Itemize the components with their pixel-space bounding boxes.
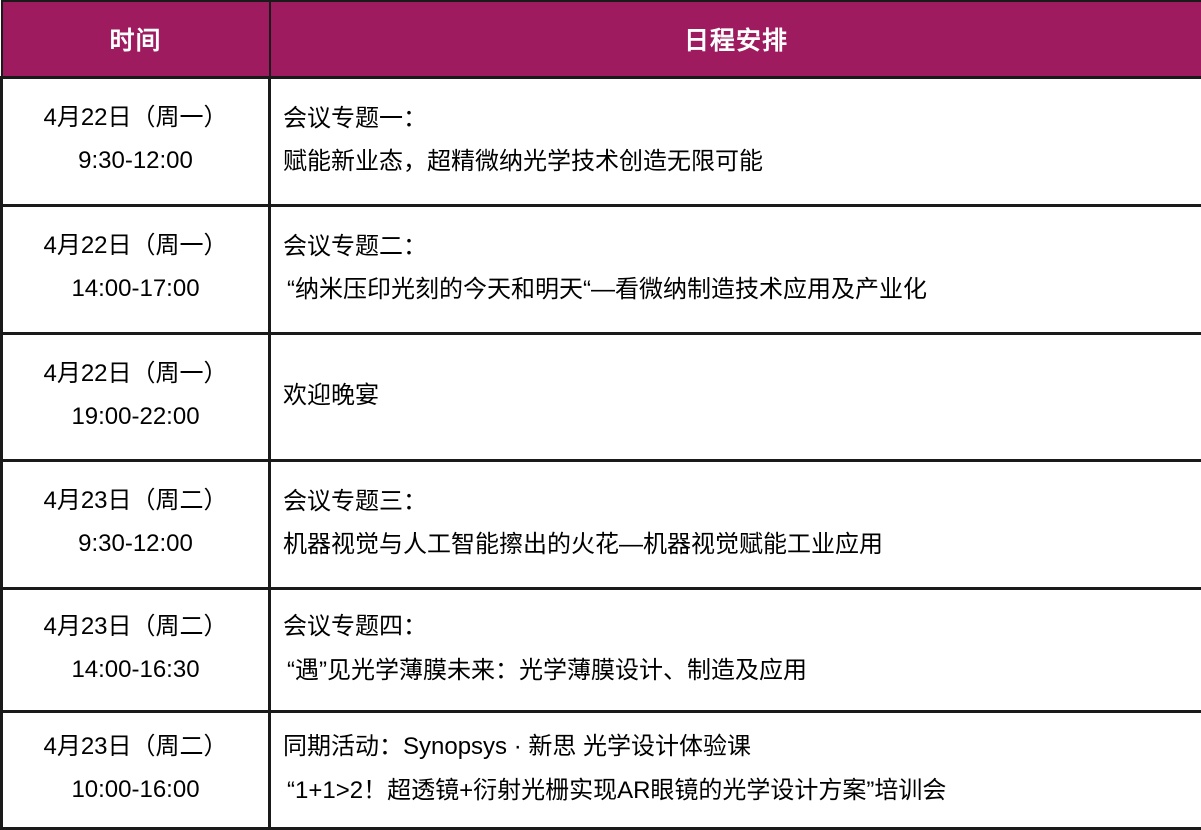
agenda-title: 会议专题三： <box>283 480 1191 523</box>
table-row: 4月23日（周二） 10:00-16:00 同期活动：Synopsys · 新思… <box>2 711 1201 828</box>
agenda-cell: 会议专题四： “遇”见光学薄膜未来：光学薄膜设计、制造及应用 <box>270 588 1201 711</box>
agenda-cell: 会议专题三： 机器视觉与人工智能擦出的火花—机器视觉赋能工业应用 <box>270 460 1201 588</box>
time-range: 9:30-12:00 <box>9 140 262 183</box>
time-date: 4月22日（周一） <box>9 97 262 140</box>
column-header-agenda: 日程安排 <box>270 1 1201 77</box>
schedule-table: 时间 日程安排 4月22日（周一） 9:30-12:00 会议专题一： 赋能新业… <box>0 0 1201 830</box>
agenda-title: 会议专题四： <box>283 605 1191 648</box>
time-cell: 4月22日（周一） 14:00-17:00 <box>2 205 270 333</box>
table-row: 4月22日（周一） 14:00-17:00 会议专题二： “纳米压印光刻的今天和… <box>2 205 1201 333</box>
table-row: 4月22日（周一） 19:00-22:00 欢迎晚宴 <box>2 333 1201 460</box>
time-cell: 4月23日（周二） 14:00-16:30 <box>2 588 270 711</box>
table-header: 时间 日程安排 <box>2 1 1201 77</box>
agenda-detail: “纳米压印光刻的今天和明天“—看微纳制造技术应用及产业化 <box>283 268 1191 311</box>
agenda-title: 会议专题一： <box>283 97 1191 140</box>
time-date: 4月23日（周二） <box>9 606 262 649</box>
time-range: 10:00-16:00 <box>9 769 262 812</box>
agenda-detail: “1+1>2！超透镜+衍射光栅实现AR眼镜的光学设计方案”培训会 <box>283 769 1191 812</box>
agenda-cell: 欢迎晚宴 <box>270 333 1201 460</box>
agenda-title: 会议专题二： <box>283 225 1191 268</box>
time-cell: 4月22日（周一） 19:00-22:00 <box>2 333 270 460</box>
time-range: 19:00-22:00 <box>9 396 262 439</box>
agenda-detail: “遇”见光学薄膜未来：光学薄膜设计、制造及应用 <box>283 649 1191 692</box>
time-range: 14:00-17:00 <box>9 268 262 311</box>
agenda-cell: 会议专题二： “纳米压印光刻的今天和明天“—看微纳制造技术应用及产业化 <box>270 205 1201 333</box>
header-row: 时间 日程安排 <box>2 1 1201 77</box>
column-header-time: 时间 <box>2 1 270 77</box>
time-range: 14:00-16:30 <box>9 649 262 692</box>
time-range: 9:30-12:00 <box>9 523 262 566</box>
time-date: 4月22日（周一） <box>9 225 262 268</box>
time-cell: 4月23日（周二） 9:30-12:00 <box>2 460 270 588</box>
table-row: 4月22日（周一） 9:30-12:00 会议专题一： 赋能新业态，超精微纳光学… <box>2 77 1201 205</box>
time-date: 4月23日（周二） <box>9 480 262 523</box>
table-body: 4月22日（周一） 9:30-12:00 会议专题一： 赋能新业态，超精微纳光学… <box>2 77 1201 828</box>
agenda-title: 同期活动：Synopsys · 新思 光学设计体验课 <box>283 725 1191 768</box>
time-date: 4月23日（周二） <box>9 726 262 769</box>
agenda-detail: 机器视觉与人工智能擦出的火花—机器视觉赋能工业应用 <box>283 523 1191 566</box>
time-cell: 4月23日（周二） 10:00-16:00 <box>2 711 270 828</box>
agenda-title: 欢迎晚宴 <box>283 379 1191 413</box>
agenda-cell: 同期活动：Synopsys · 新思 光学设计体验课 “1+1>2！超透镜+衍射… <box>270 711 1201 828</box>
time-date: 4月22日（周一） <box>9 353 262 396</box>
time-cell: 4月22日（周一） 9:30-12:00 <box>2 77 270 205</box>
agenda-detail: 赋能新业态，超精微纳光学技术创造无限可能 <box>283 140 1191 183</box>
table-row: 4月23日（周二） 14:00-16:30 会议专题四： “遇”见光学薄膜未来：… <box>2 588 1201 711</box>
agenda-cell: 会议专题一： 赋能新业态，超精微纳光学技术创造无限可能 <box>270 77 1201 205</box>
table-row: 4月23日（周二） 9:30-12:00 会议专题三： 机器视觉与人工智能擦出的… <box>2 460 1201 588</box>
